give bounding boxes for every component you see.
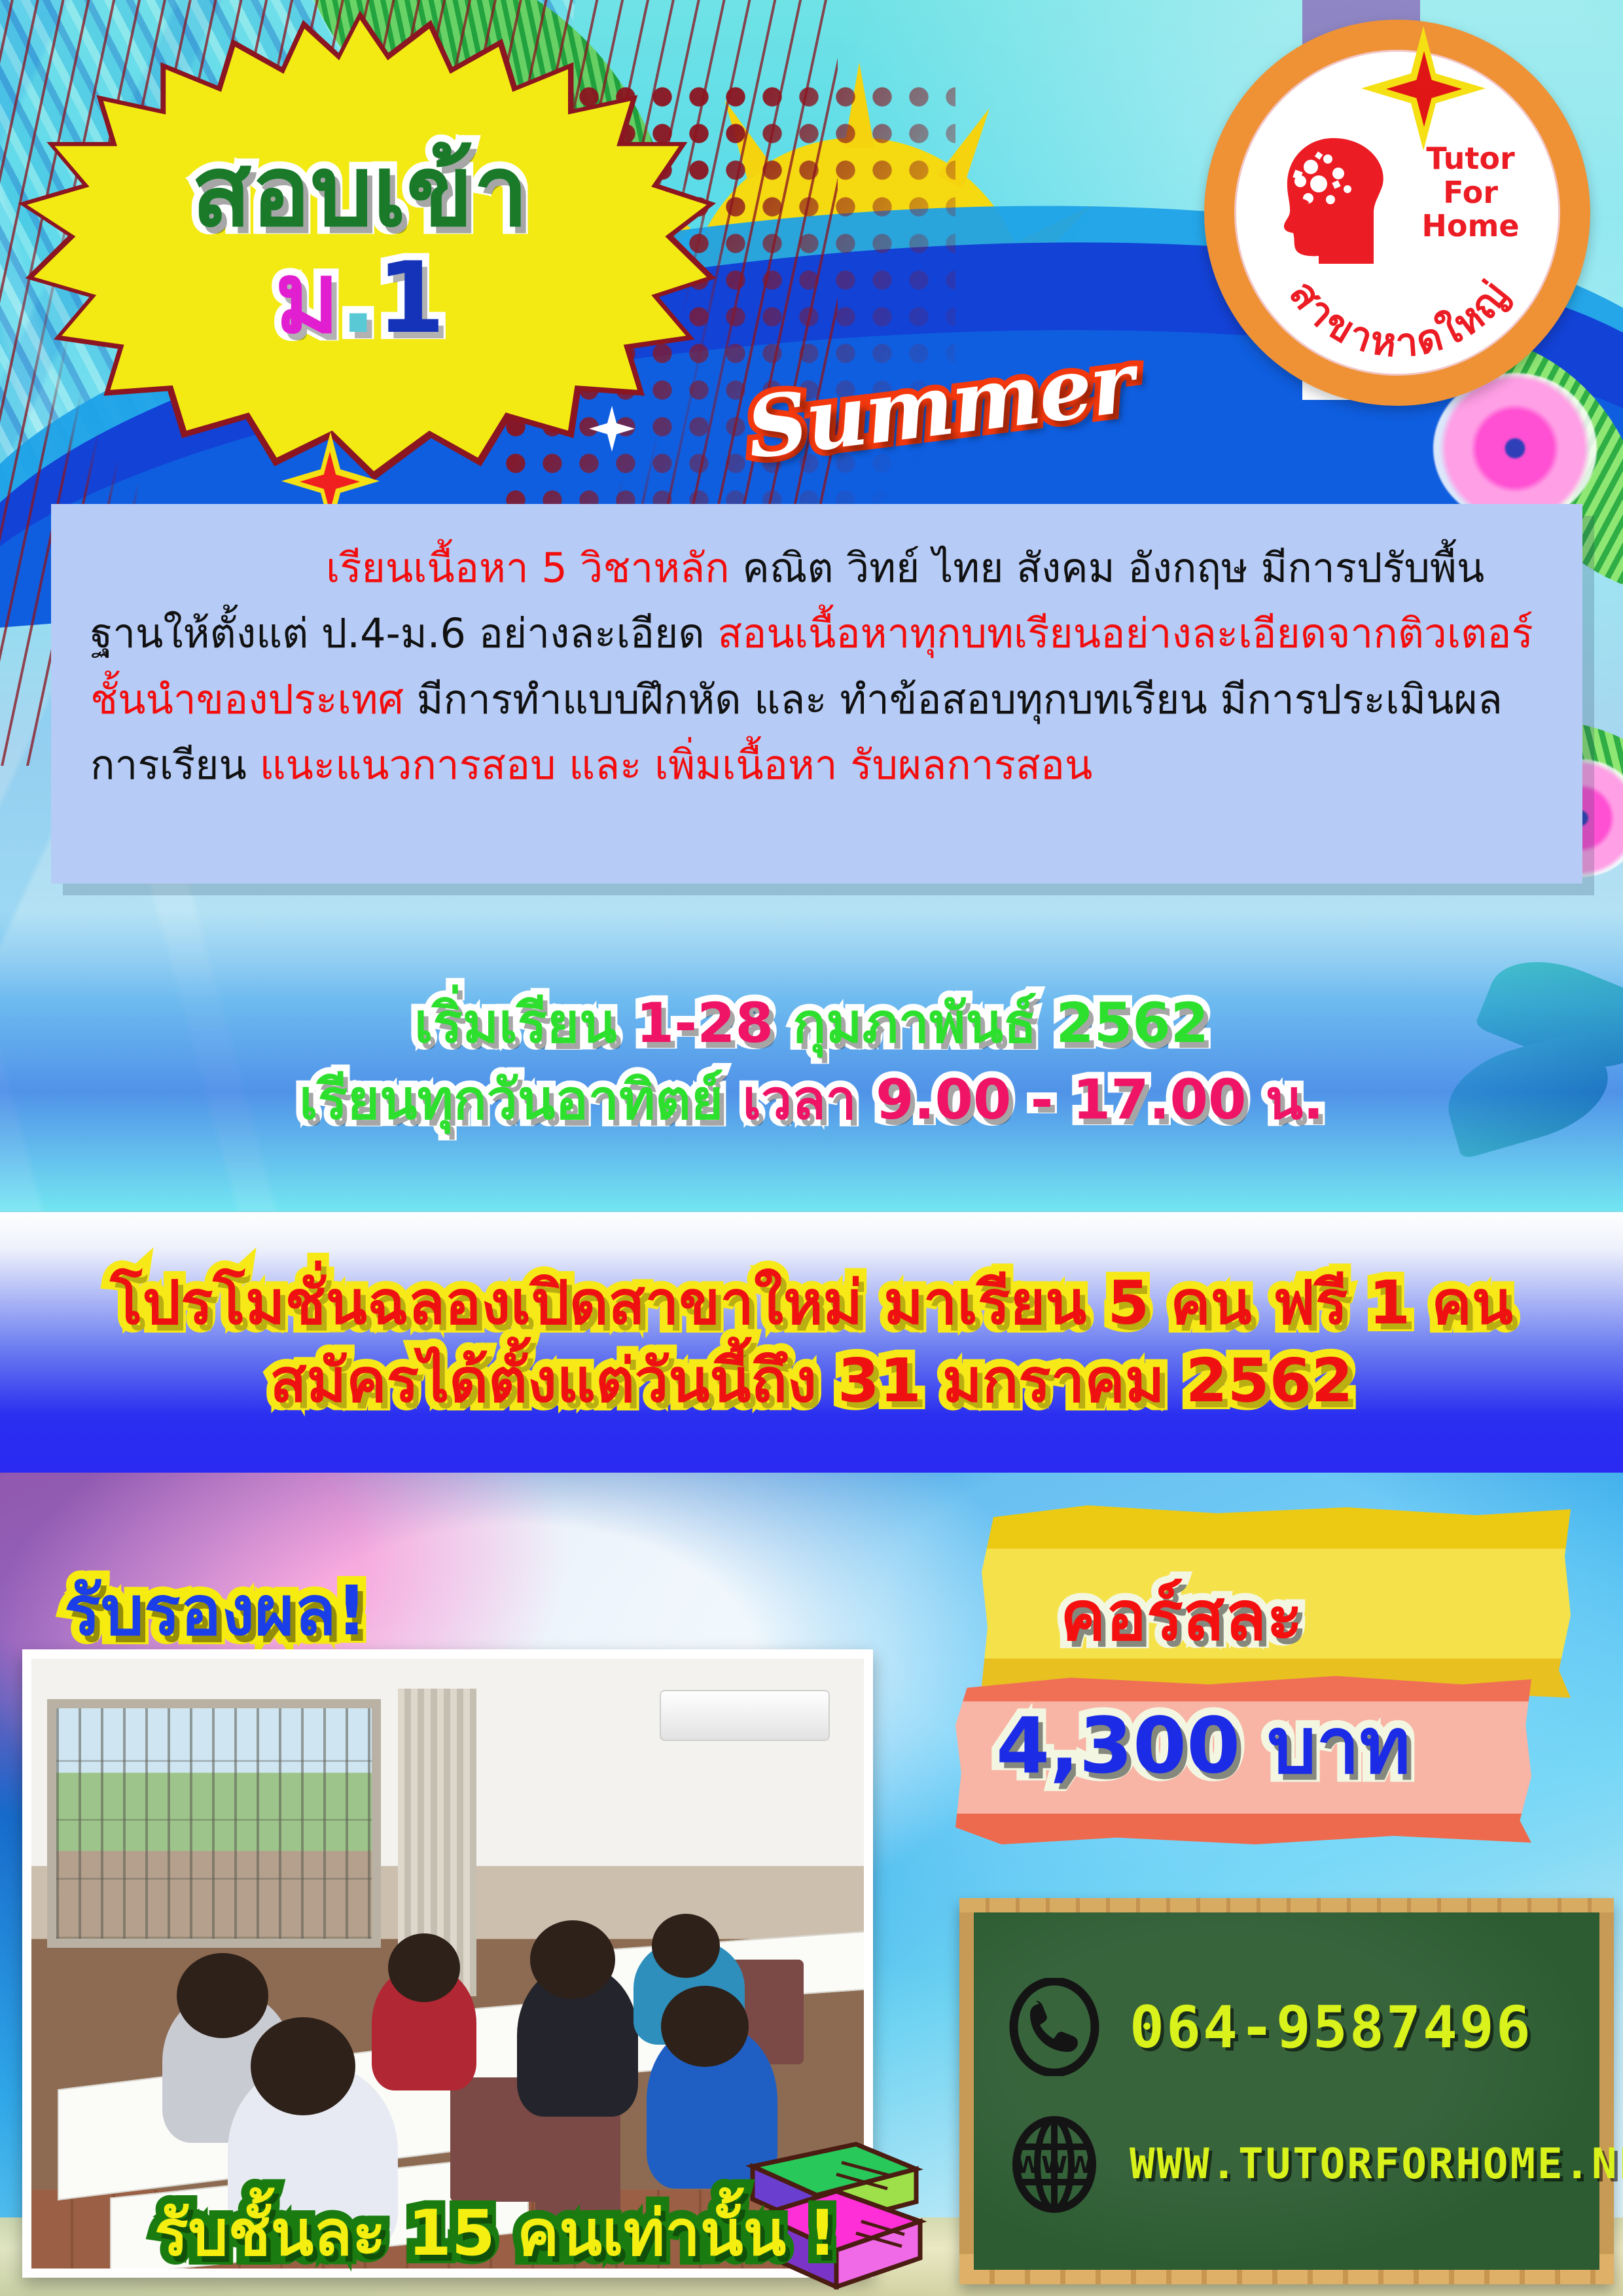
window-bars-decor [56,1708,372,1939]
globe-www-icon: WWW [1005,2115,1103,2214]
headline-grade-dot: . [340,242,377,355]
price-box: คอร์สละ 4,300 บาท [982,1505,1571,1852]
phone-number: 064-9587496 [1130,1994,1533,2061]
schedule-date-range: 1-28 [636,991,774,1055]
student-head [251,2017,355,2115]
poster-root: Tutor For Home สาขาหาดใหญ่ สอบเข้า ม.1 [0,0,1623,2296]
headline-starburst: สอบเข้า ม.1 [13,20,707,471]
course-description-text: เรียนเนื้อหา 5 วิชาหลัก คณิต วิทย์ ไทย ส… [90,535,1541,798]
website-url: WWW.TUTORFORHOME.NET [1130,2140,1623,2189]
svg-text:สาขาหาดใหญ่: สาขาหาดใหญ่ [1280,271,1519,366]
board-frame-top [959,1898,1614,1912]
board-surface: 064-9587496 WWW WWW.TUTORFORHOME.NET [974,1912,1599,2270]
air-conditioner-icon [660,1690,830,1741]
course-description-panel: เรียนเนื้อหา 5 วิชาหลัก คณิต วิทย์ ไทย ส… [51,504,1582,884]
headline-grade-number: 1 [377,242,445,355]
svg-text:WWW: WWW [1015,2152,1093,2179]
price-amount: 4,300 บาท [996,1683,1410,1806]
phone-icon [1005,1978,1103,2076]
promotion-line-1: โปรโมชั่นฉลองเปิดสาขาใหม่ มาเรียน 5 คน ฟ… [110,1268,1513,1339]
headline-line-1: สอบเข้า [192,141,529,244]
schedule-time-range: เวลา 9.00 - 17.00 น. [723,1067,1324,1132]
headline-text-group: สอบเข้า ม.1 [13,20,707,471]
guarantee-badge-text: รับรองผล! [64,1556,367,1664]
price-label: คอร์สละ [1060,1562,1303,1670]
branch-arc-text: สาขาหาดใหญ่ [1236,52,1560,376]
contact-chalkboard: 064-9587496 WWW WWW.TUTORFORHOME.NET [959,1898,1614,2284]
description-segment: เรียนเนื้อหา 5 วิชาหลัก [326,544,742,592]
schedule-line-1: เริ่มเรียน 1-28 กุมภาพันธ์ 2562 [414,991,1209,1056]
student-head [652,1914,720,1978]
student-head [388,1933,460,2002]
schedule-band: เริ่มเรียน 1-28 กุมภาพันธ์ 2562 เรียนทุก… [0,911,1623,1212]
student-head [530,1920,615,1999]
schedule-start-label: เริ่มเรียน [414,991,636,1055]
student-head [177,1953,268,2038]
promotion-banner: โปรโมชั่นฉลองเปิดสาขาใหม่ มาเรียน 5 คน ฟ… [0,1212,1623,1473]
schedule-line-2: เรียนทุกวันอาทิตย์ เวลา 9.00 - 17.00 น. [299,1067,1324,1132]
contact-website-row[interactable]: WWW WWW.TUTORFORHOME.NET [1005,2115,1623,2214]
headline-line-2: ม.1 [275,247,445,351]
schedule-month-year: กุมภาพันธ์ 2562 [774,991,1209,1055]
student-head [661,1986,749,2067]
schedule-day-label: เรียนทุกวันอาทิตย์ [299,1067,723,1132]
contact-phone-row[interactable]: 064-9587496 [1005,1978,1533,2076]
promotion-line-2: สมัครได้ตั้งแต่วันนี้ถึง 31 มกราคม 2562 [270,1346,1353,1417]
headline-grade-prefix: ม [275,242,340,355]
description-segment: แนะแนวการสอบ และ เพิ่มเนื้อหา รับผลการสอ… [260,741,1093,789]
class-size-text: รับชั้นละ 15 คนเท่านั้น ! [154,2183,836,2283]
window-decor [47,1699,381,1948]
